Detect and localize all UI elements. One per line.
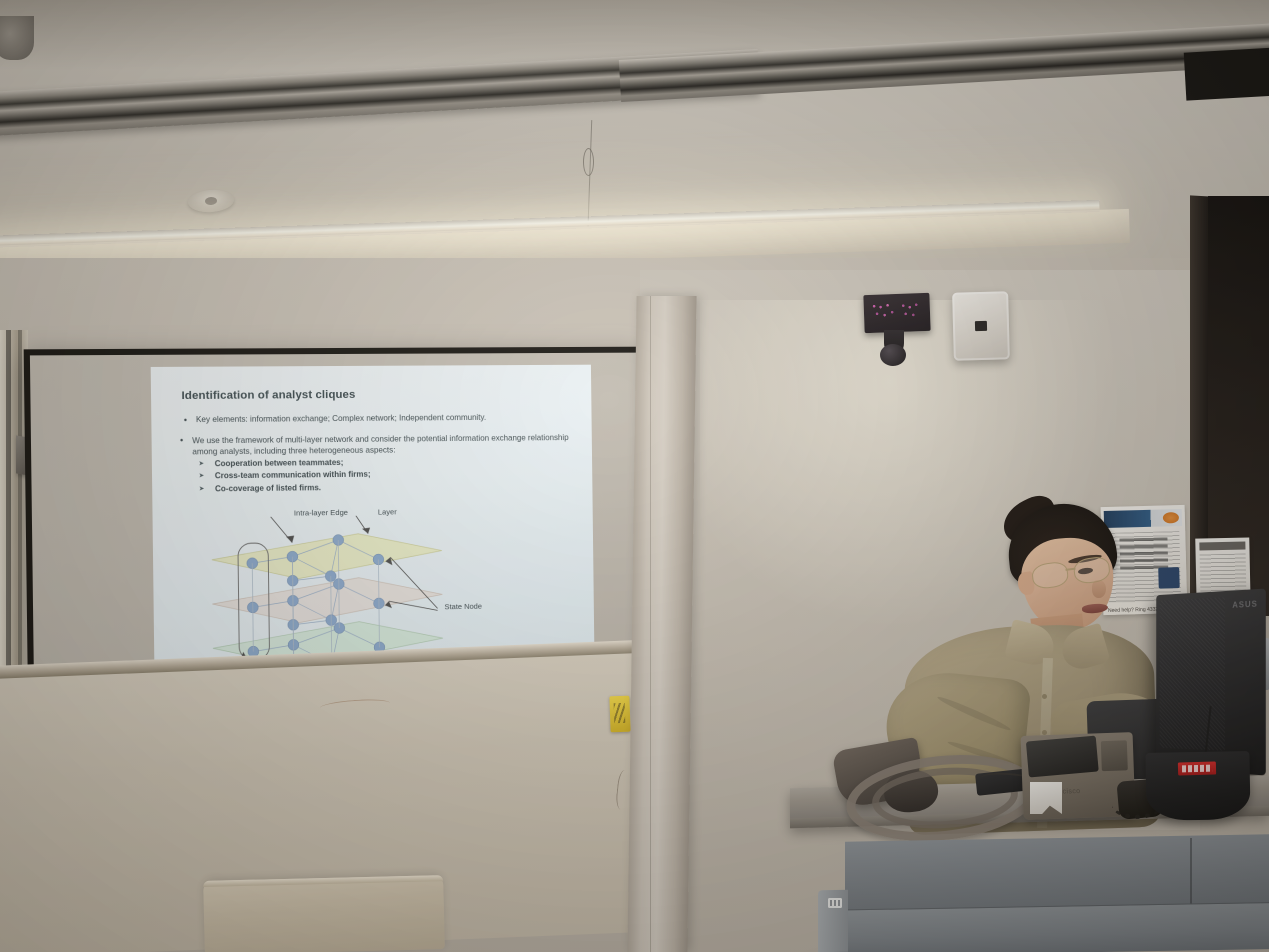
wall-speaker [952,291,1010,360]
glasses-lens-left [1031,561,1070,590]
ceiling-camera [863,293,930,333]
layer-top [212,533,443,588]
phone-display [1026,736,1099,778]
sprinkler-head-icon [0,16,34,60]
camera-ball-joint [880,344,906,366]
ceiling-cord-loop [583,148,594,176]
power-outlet[interactable] [828,898,842,908]
diagram-label-intra-layer-edge: Intra-layer Edge [294,508,348,518]
screen-surface: Identification of analyst cliques Key el… [30,353,642,689]
layer-middle [212,576,443,631]
phone-stand [1030,782,1062,814]
asus-monitor: ASUS [1156,589,1266,776]
poster2-title-band [1199,542,1245,551]
shirt-button-1 [1042,694,1047,699]
diffuser-end-cap [1184,47,1269,100]
red-asset-label [1178,762,1216,776]
glasses-lens-right [1072,556,1111,585]
nose [1092,580,1106,598]
monitor-brand-label: ASUS [1232,599,1258,610]
phone-brand-label: cisco [1062,788,1080,796]
foreground-chair [203,875,445,952]
column-seam [650,296,651,952]
diagram-label-state-node: State Node [444,602,482,612]
slide-bullet-1: Key elements: information exchange; Comp… [178,412,576,426]
monitor-back-vent [1160,597,1225,751]
camera-led-array [870,300,925,324]
slide-bullet-list: Key elements: information exchange; Comp… [178,412,577,496]
projected-slide: Identification of analyst cliques Key el… [151,365,595,682]
phone-keypad[interactable] [1101,740,1128,771]
slide-title: Identification of analyst cliques [181,389,355,402]
speaker-logo-icon [975,321,987,331]
diagram-label-layer: Layer [378,507,397,516]
lecture-room-photo: Identification of analyst cliques Key el… [0,0,1269,952]
mouth [1082,603,1109,614]
yellow-marker-holder [609,696,630,733]
lectern-cabinet-lower [818,902,1269,952]
projection-screen: Identification of analyst cliques Key el… [24,347,646,695]
structural-column [627,296,696,952]
